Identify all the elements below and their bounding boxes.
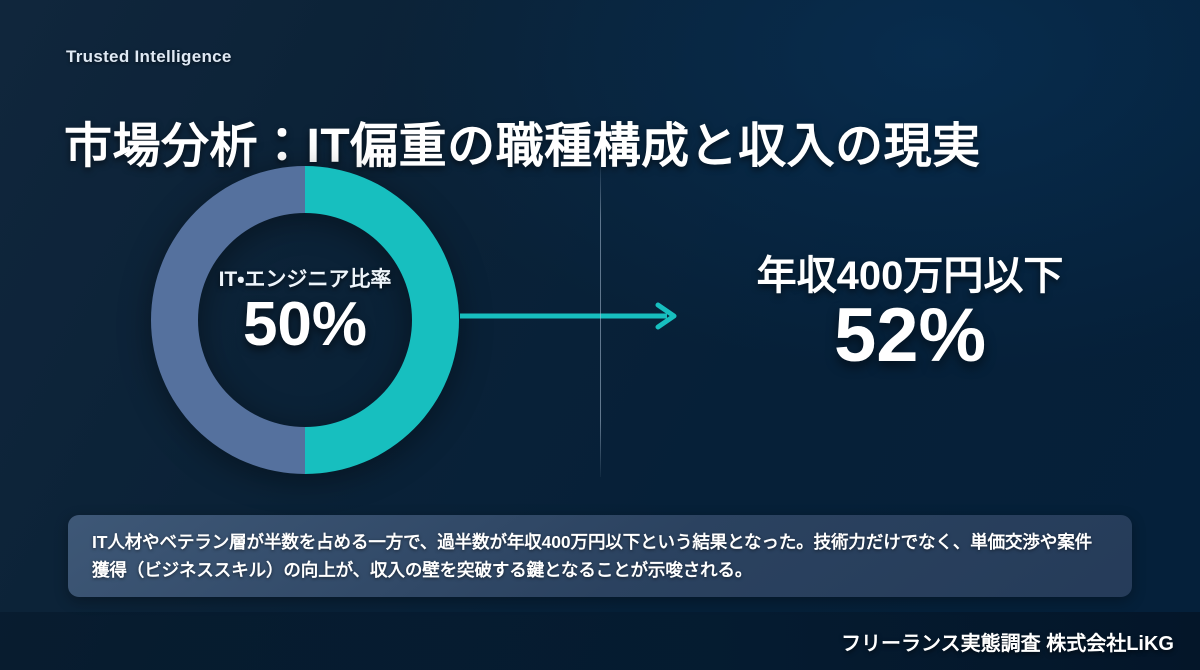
footer-attribution: フリーランス実態調査 株式会社LiKG [841, 627, 1174, 656]
stat-value: 52% [700, 298, 1120, 374]
eyebrow-label: Trusted Intelligence [66, 47, 232, 67]
arrow-right-icon [460, 302, 682, 330]
donut-center-label: IT・エンジニア比率 [147, 263, 463, 293]
caption-panel: IT人材やベテラン層が半数を占める一方で、過半数が年収400万円以下という結果と… [68, 515, 1132, 597]
vertical-divider [600, 162, 601, 477]
caption-text: IT人材やベテラン層が半数を占める一方で、過半数が年収400万円以下という結果と… [92, 528, 1108, 585]
slide-root: Trusted Intelligence 市場分析：IT偏重の職種構成と収入の現… [0, 0, 1200, 670]
donut-center-value: 50% [147, 294, 463, 356]
